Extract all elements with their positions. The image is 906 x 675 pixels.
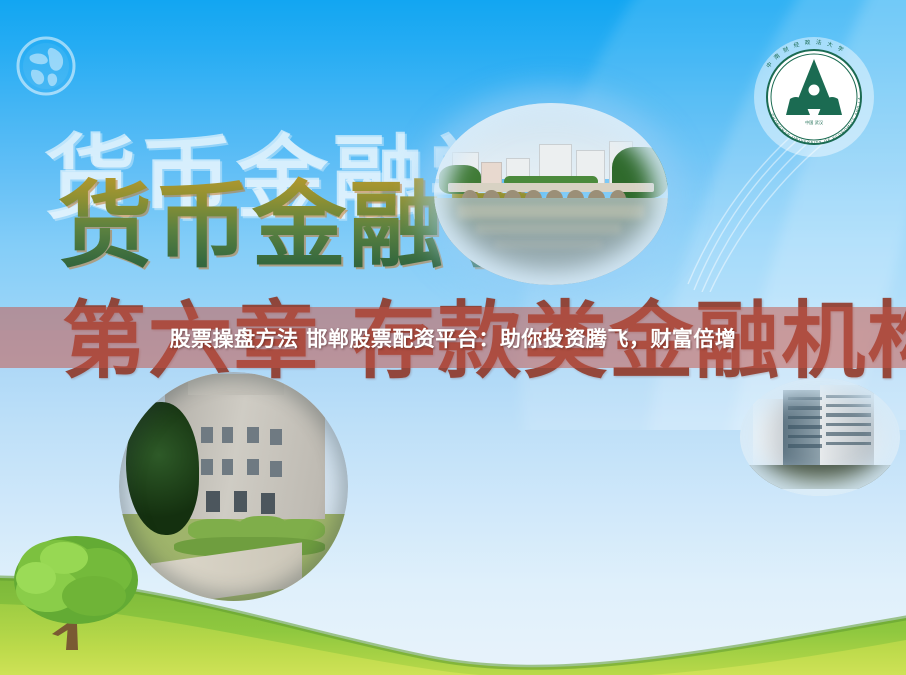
globe-icon xyxy=(14,34,78,98)
campus-tower-photo xyxy=(740,378,900,496)
university-seal-icon: 中南财经政法大学 ZHONGNAN UNIVERSITY OF ECONOMIC… xyxy=(750,33,878,161)
banner-image: 中南财经政法大学 ZHONGNAN UNIVERSITY OF ECONOMIC… xyxy=(0,0,906,675)
headline-text: 股票操盘方法 邯郸股票配资平台：助你投资腾飞，财富倍增 xyxy=(0,307,906,368)
tree-icon xyxy=(6,524,156,654)
svg-text:中国 武汉: 中国 武汉 xyxy=(805,119,824,126)
campus-bridge-photo xyxy=(434,103,668,285)
